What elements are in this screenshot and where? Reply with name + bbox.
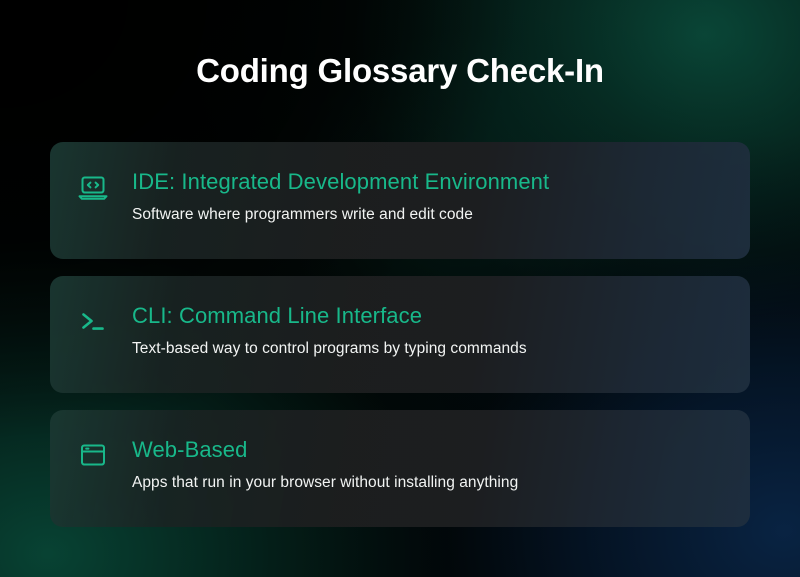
glossary-card-list: IDE: Integrated Development Environment … bbox=[50, 142, 750, 527]
laptop-code-icon bbox=[76, 170, 110, 204]
card-heading: IDE: Integrated Development Environment bbox=[132, 167, 549, 197]
glossary-card-ide[interactable]: IDE: Integrated Development Environment … bbox=[50, 142, 750, 259]
card-description: Software where programmers write and edi… bbox=[132, 204, 473, 226]
slide-canvas: Coding Glossary Check-In IDE: Integrated… bbox=[0, 0, 800, 577]
page-title: Coding Glossary Check-In bbox=[0, 51, 800, 91]
terminal-prompt-icon bbox=[76, 304, 110, 338]
glossary-card-cli[interactable]: CLI: Command Line Interface Text-based w… bbox=[50, 276, 750, 393]
card-content: IDE: Integrated Development Environment … bbox=[50, 142, 750, 259]
card-content: CLI: Command Line Interface Text-based w… bbox=[50, 276, 750, 393]
card-content: Web-Based Apps that run in your browser … bbox=[50, 410, 750, 527]
card-description: Apps that run in your browser without in… bbox=[132, 472, 518, 494]
glossary-card-web-based[interactable]: Web-Based Apps that run in your browser … bbox=[50, 410, 750, 527]
card-heading: Web-Based bbox=[132, 435, 247, 465]
browser-window-icon bbox=[76, 438, 110, 472]
card-description: Text-based way to control programs by ty… bbox=[132, 338, 527, 360]
card-heading: CLI: Command Line Interface bbox=[132, 301, 422, 331]
